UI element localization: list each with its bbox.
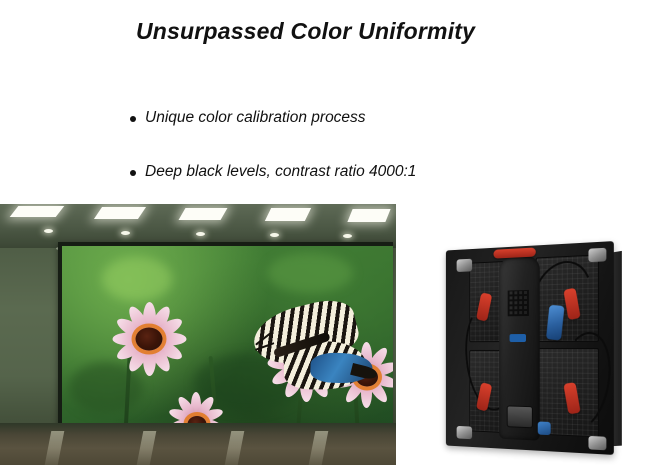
bullet-item-1: Unique color calibration process bbox=[130, 109, 366, 127]
corner-lug bbox=[588, 248, 606, 262]
ceiling-light-icon bbox=[10, 206, 65, 217]
led-screen-frame bbox=[58, 242, 393, 437]
background-bokeh bbox=[102, 257, 172, 301]
slide-root: { "slide": { "title": "Unsurpassed Color… bbox=[0, 0, 650, 465]
ceiling-light-icon bbox=[94, 207, 146, 219]
corner-lug bbox=[588, 436, 606, 450]
bullet-text: Unique color calibration process bbox=[145, 109, 366, 127]
power-connector bbox=[538, 421, 551, 435]
module-socket bbox=[507, 405, 533, 428]
coneflower bbox=[108, 298, 190, 380]
bullet-dot-icon bbox=[130, 170, 136, 176]
led-wall-room-photo bbox=[0, 204, 396, 465]
cabinet-power-module bbox=[499, 255, 540, 440]
ceiling-light-icon bbox=[265, 208, 311, 221]
module-badge bbox=[510, 334, 526, 342]
butterfly bbox=[224, 294, 386, 412]
led-cabinet-photo bbox=[432, 240, 628, 458]
led-screen-surface bbox=[62, 246, 393, 433]
ceiling-spot-icon bbox=[270, 233, 279, 237]
ceiling-light-icon bbox=[347, 209, 390, 222]
background-bokeh bbox=[267, 253, 353, 293]
bullet-item-2: Deep black levels, contrast ratio 4000:1 bbox=[130, 163, 416, 181]
bullet-text: Deep black levels, contrast ratio 4000:1 bbox=[145, 163, 416, 181]
ceiling-spot-icon bbox=[121, 231, 130, 235]
ceiling-spot-icon bbox=[44, 229, 53, 233]
flower-center bbox=[136, 328, 163, 351]
bullet-dot-icon bbox=[130, 116, 136, 122]
ceiling-light-icon bbox=[179, 208, 228, 220]
ceiling-spot-icon bbox=[196, 232, 205, 236]
page-title: Unsurpassed Color Uniformity bbox=[136, 18, 475, 45]
corner-lug bbox=[457, 426, 472, 439]
corner-lug bbox=[457, 259, 472, 272]
cabinet-body bbox=[446, 241, 614, 455]
vent-grille-icon bbox=[508, 290, 529, 316]
ceiling-spot-icon bbox=[343, 234, 352, 238]
